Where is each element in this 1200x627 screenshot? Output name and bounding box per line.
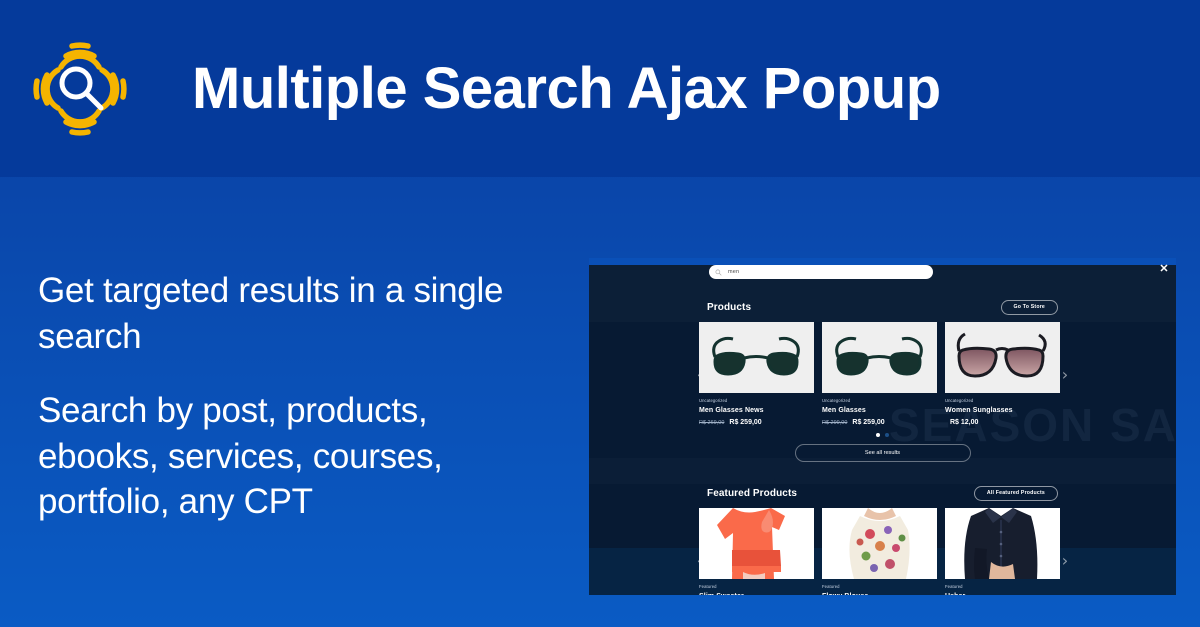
product-prices: R$ 299,00 R$ 259,00 (822, 419, 937, 426)
carousel-next-icon[interactable]: › (1058, 364, 1072, 386)
shirt-photo (945, 508, 1060, 579)
banner-header: Multiple Search Ajax Popup (0, 0, 1200, 177)
featured-card[interactable]: Featured Usher (945, 508, 1060, 595)
carousel-dot-2[interactable] (885, 433, 889, 437)
products-section-header: Products Go To Store (589, 298, 1176, 316)
featured-name: Slim Sweater (699, 593, 814, 595)
see-all-results-wrap: See all results (589, 444, 1176, 462)
product-old-price: R$ 299,00 (822, 420, 847, 426)
search-radar-logo (16, 25, 144, 153)
section-featured-products: Featured Products All Featured Products … (589, 484, 1176, 595)
copy-line-2: Search by post, products, ebooks, servic… (38, 388, 548, 526)
promo-banner: Multiple Search Ajax Popup Get targeted … (0, 0, 1200, 627)
product-name: Men Glasses (822, 407, 937, 414)
section-products: Products Go To Store ‹ › (589, 298, 1176, 462)
carousel-pagination[interactable] (589, 433, 1176, 437)
close-icon[interactable]: ✕ (1158, 263, 1170, 275)
product-name: Women Sunglasses (945, 407, 1060, 414)
product-thumbnail (945, 322, 1060, 393)
product-thumbnail (699, 322, 814, 393)
sweater-photo (699, 508, 814, 579)
featured-category: Featured (945, 584, 1060, 589)
featured-name: Usher (945, 593, 1060, 595)
featured-card[interactable]: Featured Flowy Blouse (822, 508, 937, 595)
featured-thumbnail (699, 508, 814, 579)
featured-name: Flowy Blouse (822, 593, 937, 595)
product-thumbnail (822, 322, 937, 393)
eyeglasses-icon (822, 322, 937, 393)
product-card[interactable]: Uncategorized Men Glasses News R$ 269,00… (699, 322, 814, 426)
go-to-store-button[interactable]: Go To Store (1001, 300, 1059, 315)
carousel-dot-1[interactable] (876, 433, 880, 437)
sunglasses-icon (945, 322, 1060, 393)
featured-thumbnail (945, 508, 1060, 579)
product-price: R$ 259,00 (852, 419, 884, 426)
search-input[interactable]: men (709, 265, 933, 279)
featured-next-icon[interactable]: › (1058, 550, 1072, 572)
featured-thumbnail (822, 508, 937, 579)
search-popup-mockup: SEASON SALE ✕ men Products Go To Store ‹… (589, 258, 1176, 595)
product-category: Uncategorized (699, 398, 814, 403)
product-category: Uncategorized (945, 398, 1060, 403)
featured-section-title: Featured Products (707, 488, 797, 499)
page-title: Multiple Search Ajax Popup (192, 55, 941, 122)
blouse-photo (822, 508, 937, 579)
search-input-value: men (728, 269, 739, 275)
browser-top-bar (589, 258, 1176, 265)
search-icon (715, 269, 722, 276)
featured-section-header: Featured Products All Featured Products (589, 484, 1176, 502)
featured-category: Featured (822, 584, 937, 589)
product-price: R$ 12,00 (950, 419, 978, 426)
products-section-title: Products (707, 302, 751, 313)
product-price: R$ 259,00 (729, 419, 761, 426)
products-carousel: ‹ › Uncat (589, 322, 1176, 426)
product-old-price: R$ 269,00 (699, 420, 724, 426)
product-card[interactable]: Uncategorized Women Sunglasses R$ 12,00 (945, 322, 1060, 426)
copy-line-1: Get targeted results in a single search (38, 268, 548, 360)
marketing-copy: Get targeted results in a single search … (38, 268, 548, 525)
product-name: Men Glasses News (699, 407, 814, 414)
featured-category: Featured (699, 584, 814, 589)
product-prices: R$ 269,00 R$ 259,00 (699, 419, 814, 426)
product-prices: R$ 12,00 (945, 419, 1060, 426)
see-all-results-button[interactable]: See all results (795, 444, 971, 462)
all-featured-products-button[interactable]: All Featured Products (974, 486, 1058, 501)
product-category: Uncategorized (822, 398, 937, 403)
product-card[interactable]: Uncategorized Men Glasses R$ 299,00 R$ 2… (822, 322, 937, 426)
featured-carousel: ‹ › Featured Slim Sweate (589, 508, 1176, 595)
eyeglasses-icon (699, 322, 814, 393)
featured-card[interactable]: Featured Slim Sweater (699, 508, 814, 595)
